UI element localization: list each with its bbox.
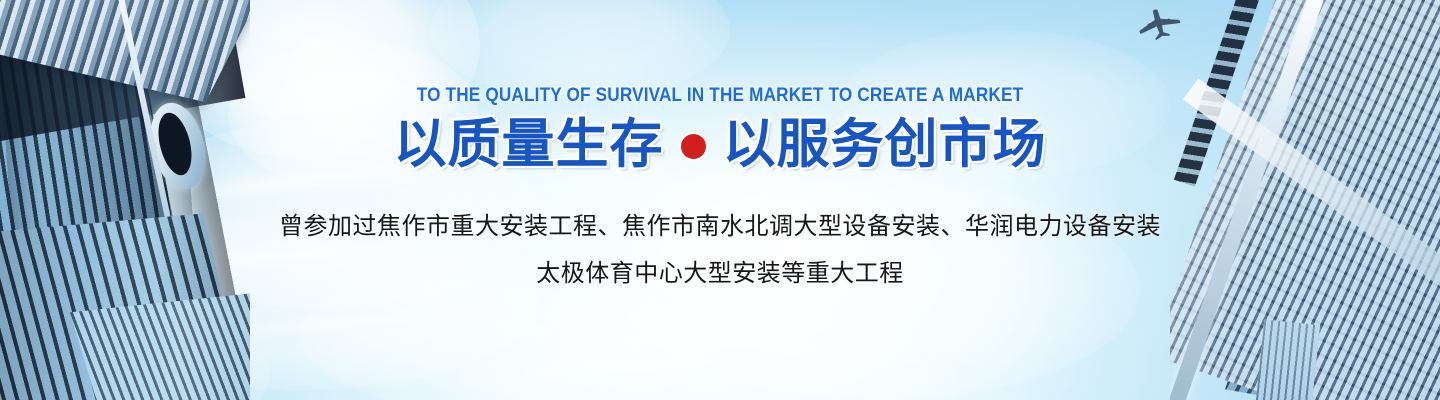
headline-right-text: 以服务创市场 [723,118,1047,171]
english-tagline: TO THE QUALITY OF SURVIVAL IN THE MARKET… [86,84,1353,107]
hero-banner: TO THE QUALITY OF SURVIVAL IN THE MARKET… [0,0,1440,400]
headline-red-dot-separator [681,134,706,159]
main-headline: 以质量生存 以服务创市场 [0,108,1440,180]
headline-left-text: 以质量生存 [394,118,664,171]
subtitle-line-2: 太极体育中心大型安装等重大工程 [0,253,1440,288]
banner-text-block: TO THE QUALITY OF SURVIVAL IN THE MARKET… [0,0,1440,400]
subtitle-line-1: 曾参加过焦作市重大安装工程、焦作市南水北调大型设备安装、华润电力设备安装 [0,206,1440,241]
